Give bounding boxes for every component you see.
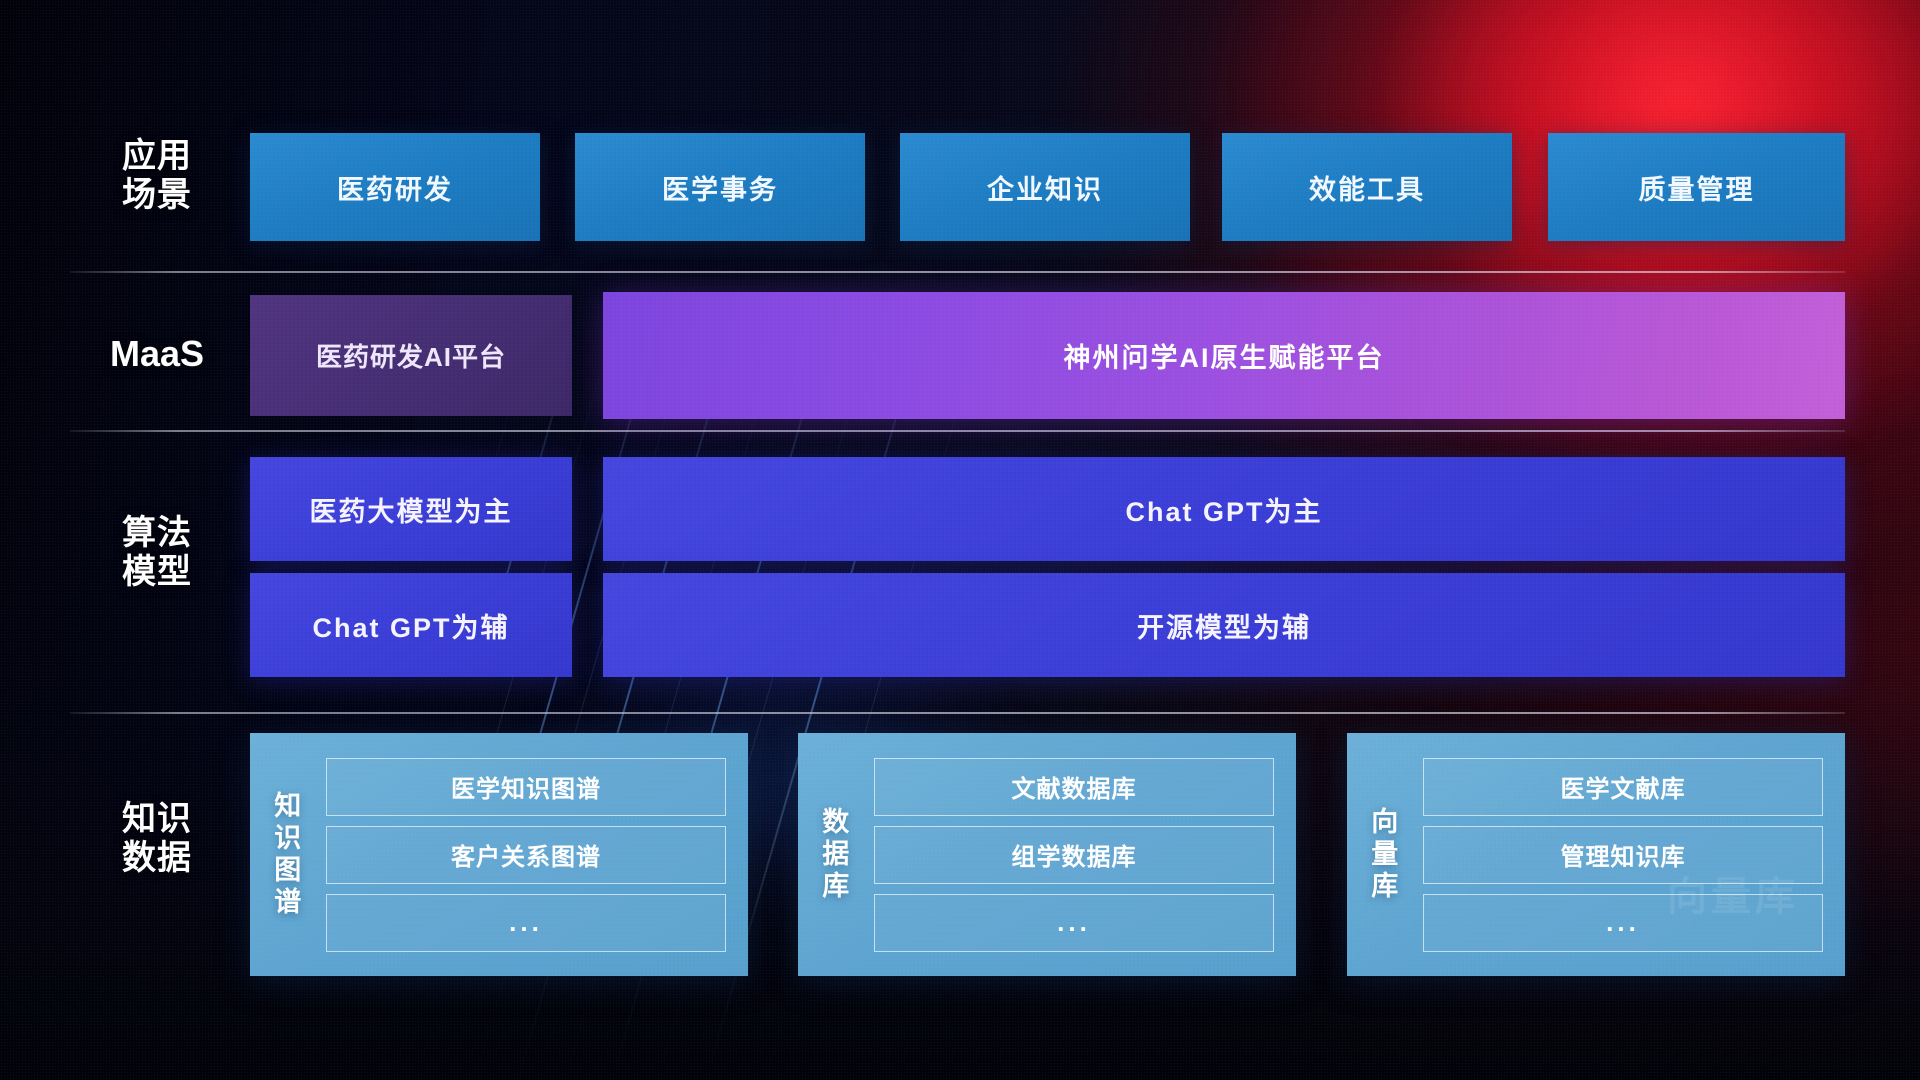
maas-box-drug-rnd-ai-platform[interactable]: 医药研发AI平台 xyxy=(250,295,572,416)
algo-box-chatgpt-primary[interactable]: Chat GPT为主 xyxy=(603,457,1845,561)
knowledge-item-vector-more-label: ... xyxy=(1606,907,1640,938)
knowledge-panel-database-vertical-label: 数据库 xyxy=(798,733,868,976)
knowledge-panel-database-items: 文献数据库 组学数据库 ... xyxy=(868,733,1296,976)
knowledge-item-graph-more[interactable]: ... xyxy=(326,894,726,952)
algo-box-medical-llm-primary[interactable]: 医药大模型为主 xyxy=(250,457,572,561)
app-box-quality-management-label: 质量管理 xyxy=(1639,168,1755,207)
knowledge-panel-vector[interactable]: 向量库 向量库 医学文献库 管理知识库 ... xyxy=(1347,733,1845,976)
architecture-diagram: 应用 场景 医药研发 医学事务 企业知识 效能工具 质量管理 MaaS 医药研发… xyxy=(0,0,1920,1080)
app-box-drug-rnd[interactable]: 医药研发 xyxy=(250,133,540,241)
knowledge-item-medical-literature[interactable]: 医学文献库 xyxy=(1423,758,1823,816)
knowledge-item-literature-db-label: 文献数据库 xyxy=(1012,769,1137,804)
divider-application-maas xyxy=(70,271,1845,273)
knowledge-item-medical-graph-label: 医学知识图谱 xyxy=(451,769,601,804)
knowledge-panel-vector-items: 医学文献库 管理知识库 ... xyxy=(1417,733,1845,976)
knowledge-item-management-kb[interactable]: 管理知识库 xyxy=(1423,826,1823,884)
knowledge-panel-database[interactable]: 数据库 文献数据库 组学数据库 ... xyxy=(798,733,1296,976)
knowledge-item-literature-db[interactable]: 文献数据库 xyxy=(874,758,1274,816)
divider-algorithm-knowledge xyxy=(70,712,1845,714)
row-label-knowledge-line1: 知识 xyxy=(72,800,242,839)
row-label-knowledge-line2: 数据 xyxy=(72,839,242,878)
knowledge-item-vector-more[interactable]: ... xyxy=(1423,894,1823,952)
divider-maas-algorithm xyxy=(70,430,1845,432)
app-box-medical-affairs-label: 医学事务 xyxy=(662,168,778,207)
knowledge-item-medical-literature-label: 医学文献库 xyxy=(1561,769,1686,804)
algo-box-opensource-secondary[interactable]: 开源模型为辅 xyxy=(603,573,1845,677)
app-box-efficiency-tools[interactable]: 效能工具 xyxy=(1222,133,1512,241)
knowledge-item-crm-graph-label: 客户关系图谱 xyxy=(451,837,601,872)
knowledge-item-database-more-label: ... xyxy=(1057,907,1091,938)
app-box-enterprise-knowledge-label: 企业知识 xyxy=(987,168,1103,207)
maas-box-shenzhou-wenxue-platform[interactable]: 神州问学AI原生赋能平台 xyxy=(603,292,1845,419)
knowledge-panel-graph[interactable]: 知识图谱 医学知识图谱 客户关系图谱 ... xyxy=(250,733,748,976)
app-box-quality-management[interactable]: 质量管理 xyxy=(1548,133,1845,241)
algo-box-medical-llm-primary-label: 医药大模型为主 xyxy=(310,490,513,529)
algo-box-chatgpt-secondary-label: Chat GPT为辅 xyxy=(312,606,509,645)
algo-box-opensource-secondary-label: 开源模型为辅 xyxy=(1137,606,1311,645)
row-label-application-line1: 应用 xyxy=(72,137,242,176)
knowledge-item-medical-graph[interactable]: 医学知识图谱 xyxy=(326,758,726,816)
knowledge-item-omics-db-label: 组学数据库 xyxy=(1012,837,1137,872)
knowledge-item-management-kb-label: 管理知识库 xyxy=(1561,837,1686,872)
knowledge-panel-graph-items: 医学知识图谱 客户关系图谱 ... xyxy=(320,733,748,976)
row-label-application: 应用 场景 xyxy=(72,137,242,215)
maas-box-shenzhou-wenxue-platform-label: 神州问学AI原生赋能平台 xyxy=(1064,336,1385,375)
app-box-enterprise-knowledge[interactable]: 企业知识 xyxy=(900,133,1190,241)
row-label-algorithm-line2: 模型 xyxy=(72,553,242,592)
algo-box-chatgpt-secondary[interactable]: Chat GPT为辅 xyxy=(250,573,572,677)
knowledge-item-omics-db[interactable]: 组学数据库 xyxy=(874,826,1274,884)
app-box-drug-rnd-label: 医药研发 xyxy=(337,168,453,207)
row-label-algorithm: 算法 模型 xyxy=(72,514,242,592)
maas-box-drug-rnd-ai-platform-label: 医药研发AI平台 xyxy=(316,337,506,374)
knowledge-panel-vector-vertical-label: 向量库 xyxy=(1347,733,1417,976)
app-box-medical-affairs[interactable]: 医学事务 xyxy=(575,133,865,241)
knowledge-panel-graph-vertical-label: 知识图谱 xyxy=(250,733,320,976)
row-label-application-line2: 场景 xyxy=(72,176,242,215)
row-label-maas: MaaS xyxy=(72,333,242,374)
knowledge-item-graph-more-label: ... xyxy=(509,907,543,938)
row-label-knowledge: 知识 数据 xyxy=(72,800,242,878)
app-box-efficiency-tools-label: 效能工具 xyxy=(1309,168,1425,207)
row-label-algorithm-line1: 算法 xyxy=(72,514,242,553)
knowledge-item-database-more[interactable]: ... xyxy=(874,894,1274,952)
knowledge-item-crm-graph[interactable]: 客户关系图谱 xyxy=(326,826,726,884)
algo-box-chatgpt-primary-label: Chat GPT为主 xyxy=(1125,490,1322,529)
